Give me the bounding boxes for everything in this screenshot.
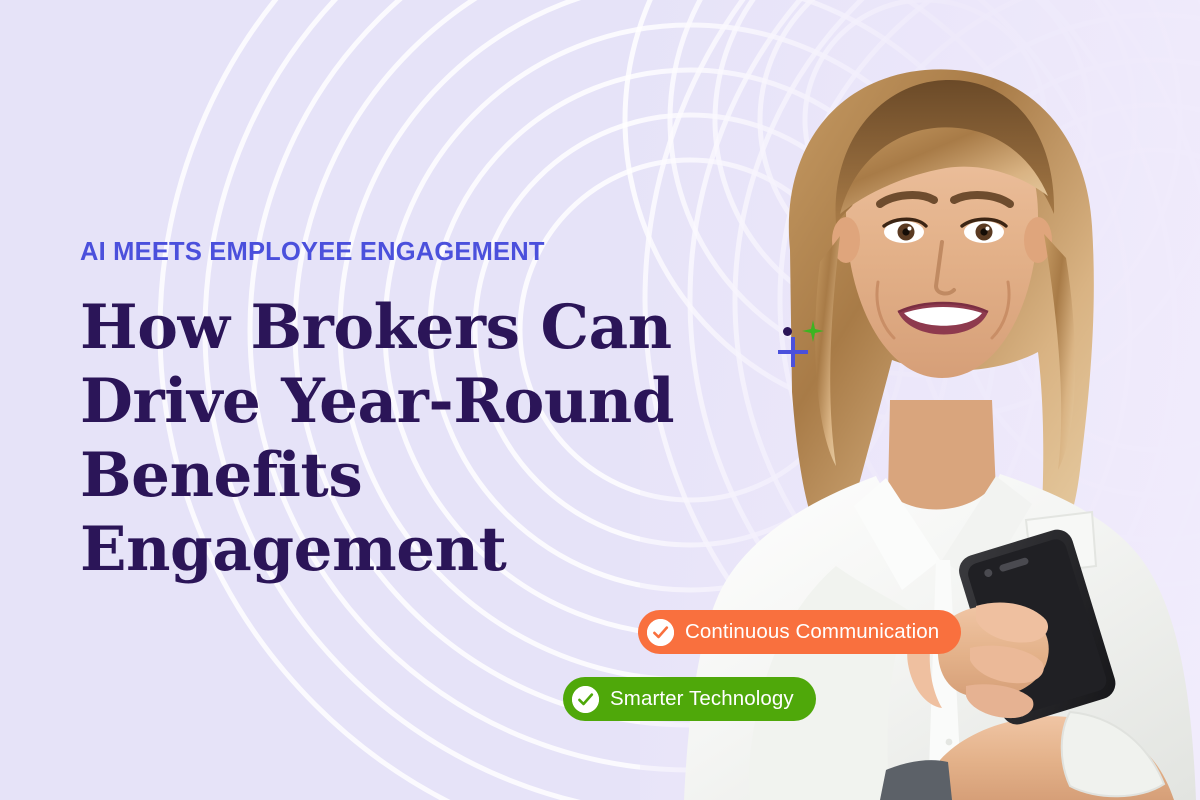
badge-label: Continuous Communication [685,620,939,644]
check-circle-icon [647,619,674,646]
headline-line-2: Drive Year-Round [80,365,740,439]
headline-line-3: Benefits [80,439,740,513]
hero-banner: AI MEETS EMPLOYEE ENGAGEMENT How Brokers… [0,0,1200,800]
page-title: How Brokers Can Drive Year-Round Benefit… [80,291,740,587]
badge-label: Smarter Technology [610,687,794,711]
headline-line-4: Engagement [80,513,740,587]
eyebrow-text: AI MEETS EMPLOYEE ENGAGEMENT [80,238,740,266]
headline-line-1: How Brokers Can [80,291,740,365]
check-circle-icon [572,686,599,713]
dot-decoration-icon [783,327,792,336]
copy-block: AI MEETS EMPLOYEE ENGAGEMENT How Brokers… [80,238,740,587]
badge-continuous-communication[interactable]: Continuous Communication [638,610,961,654]
plus-decoration-icon [778,337,808,367]
badge-smarter-technology[interactable]: Smarter Technology [563,677,816,721]
